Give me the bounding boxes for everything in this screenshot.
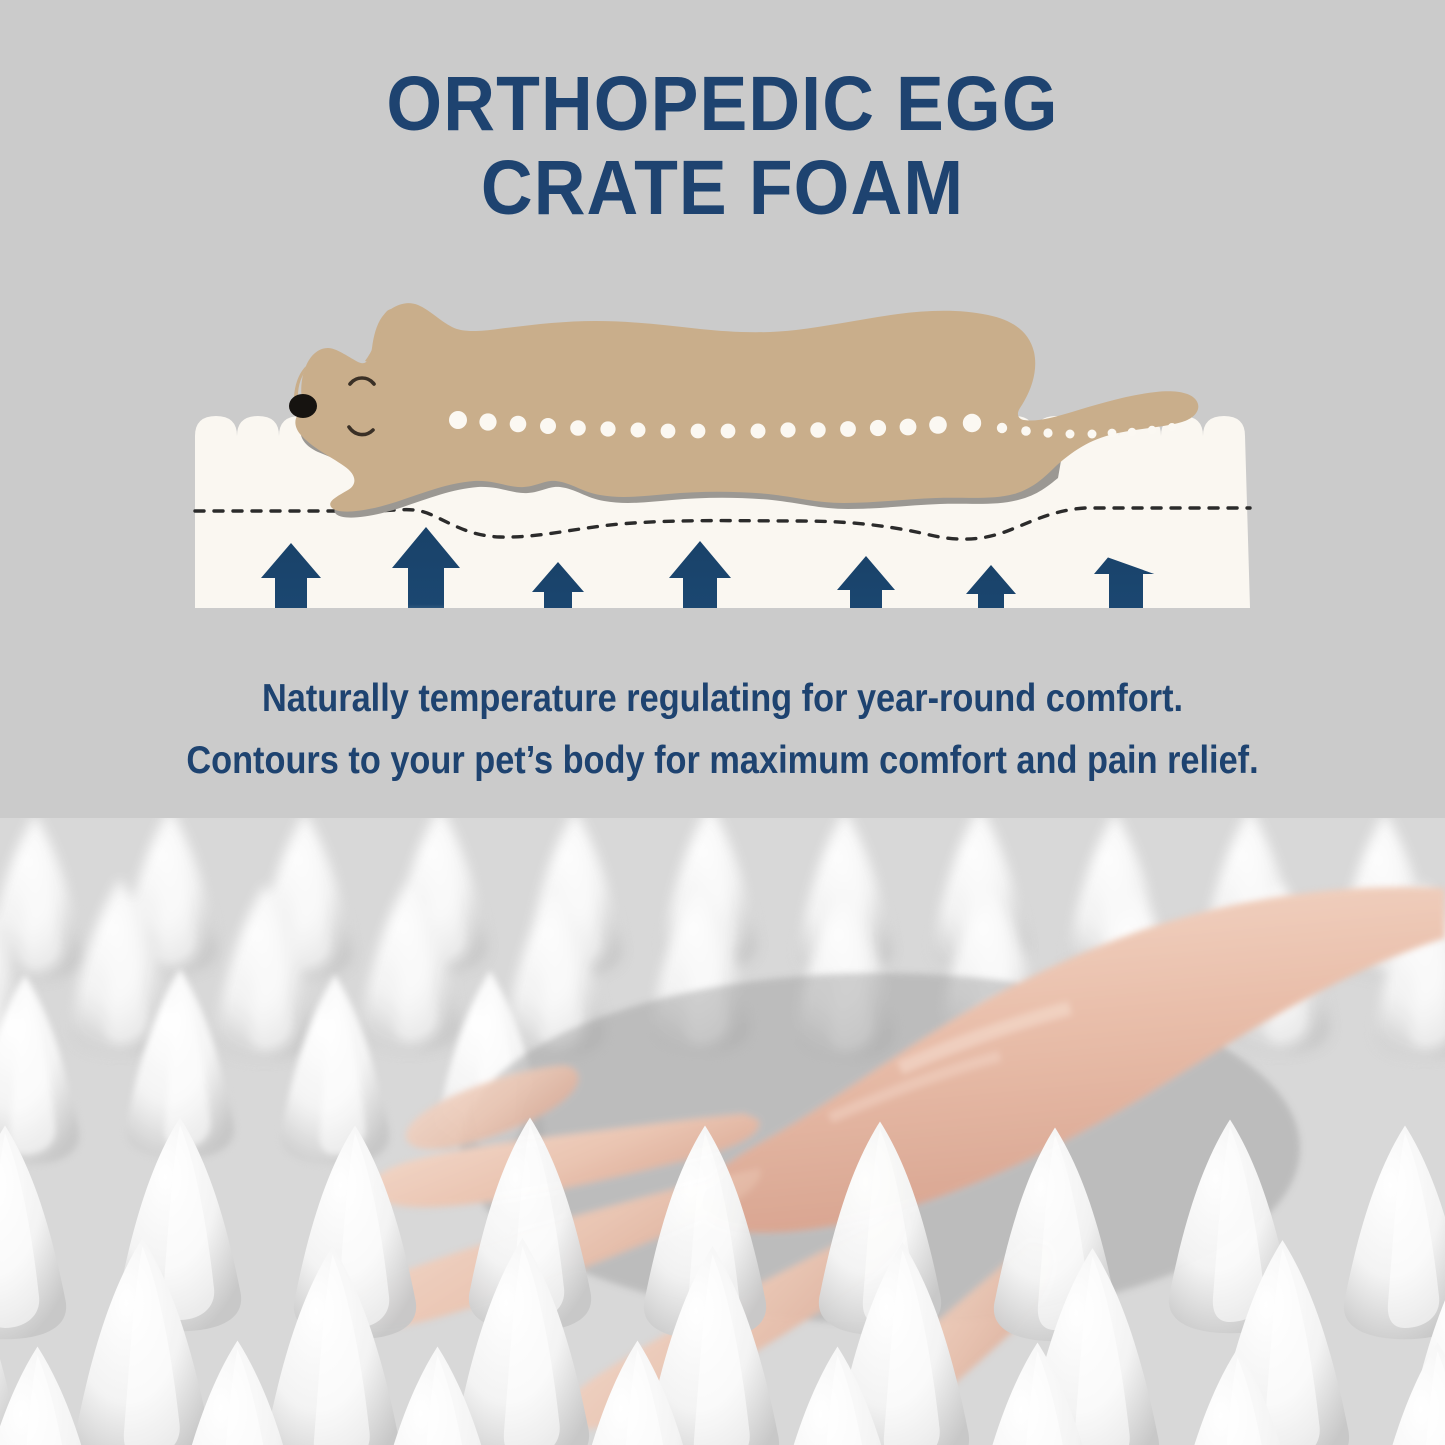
hand-pressing-foam-photo (0, 818, 1445, 1445)
product-infographic: ORTHOPEDIC EGG CRATE FOAM (0, 0, 1445, 1445)
dog-on-foam-illustration (0, 0, 1445, 660)
dog-nose-icon (289, 394, 317, 418)
feature-caption: Naturally temperature regulating for yea… (87, 668, 1359, 792)
caption-line-1: Naturally temperature regulating for yea… (87, 668, 1359, 730)
caption-line-2: Contours to your pet’s body for maximum … (87, 730, 1359, 792)
top-info-panel: ORTHOPEDIC EGG CRATE FOAM (0, 0, 1445, 818)
